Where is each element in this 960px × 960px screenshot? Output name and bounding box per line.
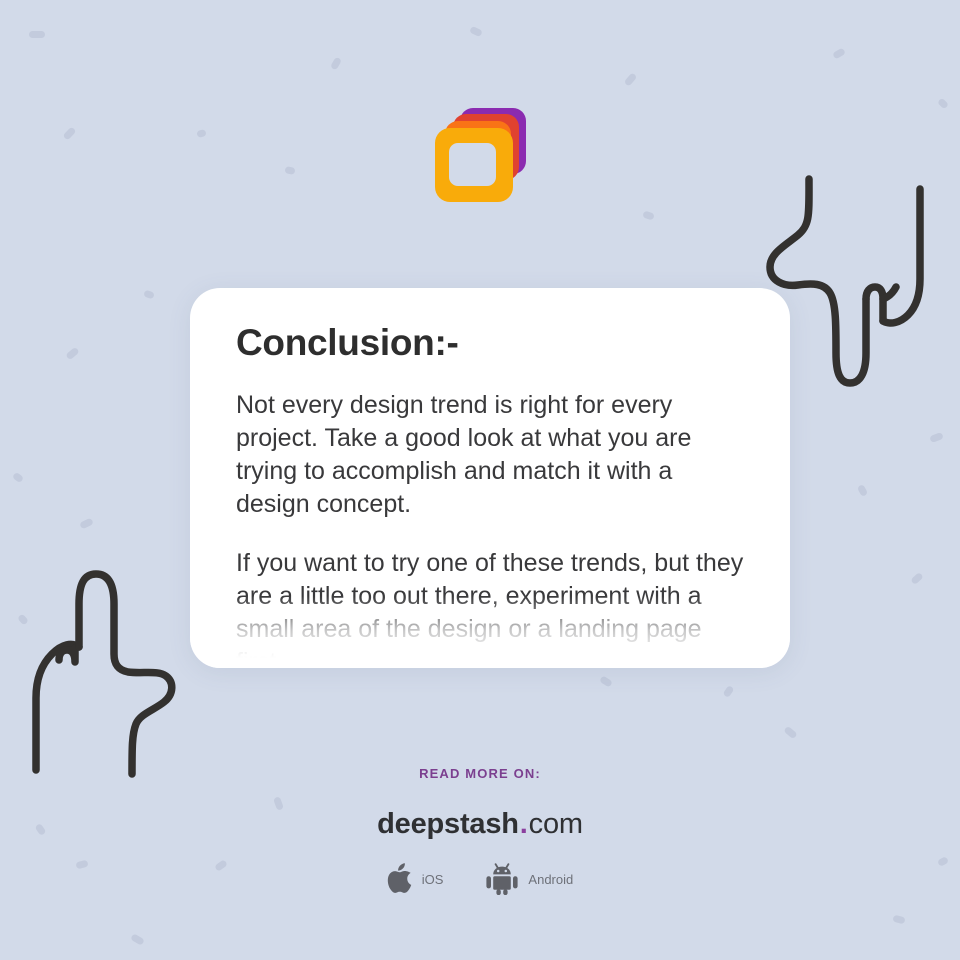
card-paragraph: Not every design trend is right for ever… [236, 389, 744, 521]
confetti-speck [17, 613, 29, 625]
apple-icon [387, 863, 413, 895]
android-icon [485, 863, 519, 895]
brand-word: deepstash [377, 808, 519, 840]
confetti-speck [783, 726, 797, 740]
logo-container [0, 100, 960, 198]
confetti-speck [130, 933, 145, 946]
confetti-speck [892, 915, 905, 925]
brand-dot: . [519, 808, 529, 840]
confetti-speck [599, 675, 613, 687]
confetti-speck [12, 472, 24, 483]
confetti-speck [910, 572, 924, 585]
confetti-speck [722, 685, 734, 698]
confetti-speck [929, 432, 944, 443]
pointing-up-hand-icon [22, 562, 202, 784]
deepstash-logo-icon [434, 100, 526, 198]
confetti-speck [330, 57, 342, 71]
card-title: Conclusion:- [236, 322, 744, 363]
confetti-speck [624, 72, 638, 86]
brand-name: deepstash.com [0, 808, 960, 841]
android-label: Android [528, 872, 573, 887]
confetti-speck [857, 484, 868, 497]
app-store-badges: iOS [0, 863, 960, 895]
logo-center-cutout [449, 143, 496, 186]
confetti-speck [65, 347, 79, 361]
android-store-badge[interactable]: Android [485, 863, 573, 895]
confetti-speck [832, 47, 846, 59]
brand-tld: com [529, 808, 583, 840]
confetti-speck [143, 290, 155, 300]
content-card: Conclusion:- Not every design trend is r… [190, 288, 790, 668]
card-body: Conclusion:- Not every design trend is r… [190, 288, 790, 668]
confetti-speck [469, 26, 483, 37]
footer: READ MORE ON: deepstash.com iOS [0, 766, 960, 895]
deepstash-share-card: Conclusion:- Not every design trend is r… [0, 0, 960, 960]
ios-store-badge[interactable]: iOS [387, 863, 444, 895]
confetti-speck [642, 210, 655, 220]
card-paragraph: If you want to try one of these trends, … [236, 547, 744, 668]
ios-label: iOS [422, 872, 444, 887]
confetti-speck [79, 518, 94, 530]
confetti-speck [29, 31, 45, 38]
read-more-label: READ MORE ON: [0, 766, 960, 781]
